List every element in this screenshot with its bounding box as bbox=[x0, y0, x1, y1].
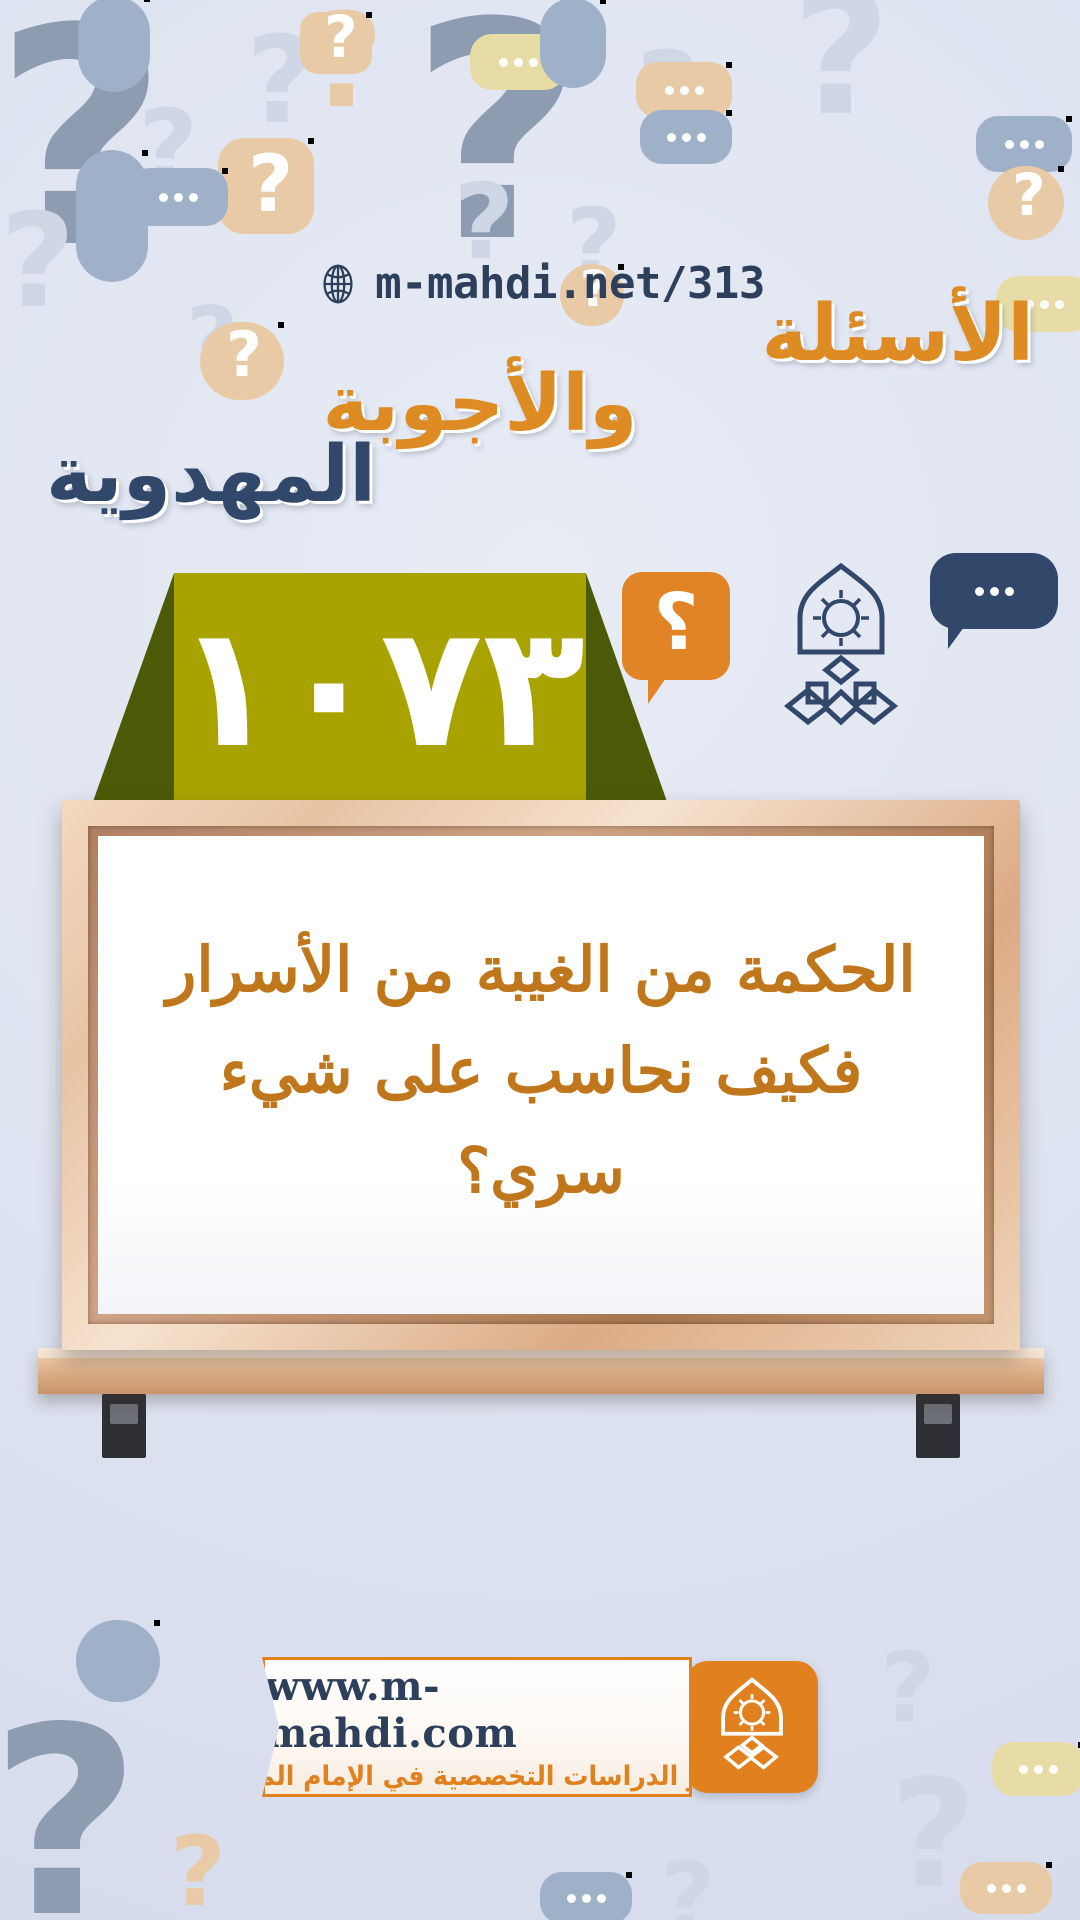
chat-bubble-icon bbox=[470, 34, 566, 90]
chat-bubble-icon bbox=[640, 110, 732, 164]
mahdi-center-ornament-icon bbox=[686, 1661, 818, 1793]
bubble-dots-icon bbox=[540, 1872, 632, 1920]
chat-bubble-icon: ? bbox=[218, 138, 314, 234]
shelf-bracket-right bbox=[916, 1394, 960, 1458]
chat-bubble-icon bbox=[930, 553, 1058, 629]
bubble-dots-icon bbox=[960, 1862, 1052, 1914]
question-mark-icon: ? bbox=[170, 1824, 226, 1920]
bubble-dots-icon bbox=[128, 168, 228, 226]
question-mark-icon: ? bbox=[138, 96, 198, 200]
question-mark-icon: ? bbox=[324, 8, 358, 66]
decor-blob bbox=[78, 0, 150, 92]
frame-canvas: الحكمة من الغيبة من الأسرار فكيف نحاسب ع… bbox=[98, 836, 984, 1314]
bubble-dots-icon bbox=[930, 553, 1058, 629]
chat-bubble-icon: ? bbox=[988, 166, 1064, 240]
question-mark-glyph: ؟ bbox=[622, 572, 730, 680]
bubble-dots-icon bbox=[470, 34, 566, 90]
footer-name-plate: www.m-mahdi.com مركز الدراسات التخصصية ف… bbox=[262, 1657, 692, 1797]
bubble-dots-icon bbox=[636, 62, 732, 118]
shelf-bracket-left bbox=[102, 1394, 146, 1458]
question-mark-icon: ? bbox=[980, 142, 1040, 246]
question-text: الحكمة من الغيبة من الأسرار فكيف نحاسب ع… bbox=[128, 920, 954, 1221]
bubble-dots-icon bbox=[640, 110, 732, 164]
frame-inner-molding: الحكمة من الغيبة من الأسرار فكيف نحاسب ع… bbox=[88, 826, 994, 1324]
chat-bubble-icon bbox=[540, 1872, 632, 1920]
footer-logo[interactable]: www.m-mahdi.com مركز الدراسات التخصصية ف… bbox=[0, 1632, 1080, 1822]
bubble-dots-icon bbox=[976, 116, 1072, 172]
footer-site-url[interactable]: www.m-mahdi.com bbox=[265, 1663, 689, 1757]
question-mark-icon: ? bbox=[248, 146, 293, 224]
question-mark-icon: ? bbox=[246, 22, 316, 142]
page-title: الأسئلة والأجوبة المهدوية bbox=[0, 296, 1080, 513]
question-mark-icon: ? bbox=[660, 1850, 716, 1920]
question-mark-bubble-icon: ؟ bbox=[622, 572, 730, 680]
footer-center-name: مركز الدراسات التخصصية في الإمام المهدي bbox=[206, 1761, 749, 1792]
chat-bubble-icon bbox=[976, 116, 1072, 172]
question-number-plaque: ١٠٧٣ bbox=[90, 573, 670, 810]
question-mark-icon: ? bbox=[0, 0, 168, 290]
chat-bubble-icon bbox=[960, 1862, 1052, 1914]
display-shelf bbox=[38, 1348, 1044, 1394]
chat-bubble-icon bbox=[128, 168, 228, 226]
islamic-ornament-icon bbox=[748, 560, 934, 740]
question-mark-icon: ? bbox=[308, 0, 383, 126]
decor-blob bbox=[540, 0, 606, 88]
frame-outer-molding: الحكمة من الغيبة من الأسرار فكيف نحاسب ع… bbox=[62, 800, 1020, 1350]
question-number: ١٠٧٣ bbox=[90, 573, 670, 810]
question-mark-icon: ? bbox=[1012, 166, 1046, 224]
chat-bubble-icon bbox=[636, 62, 732, 118]
chat-bubble-icon: ? bbox=[300, 12, 372, 74]
question-frame: الحكمة من الغيبة من الأسرار فكيف نحاسب ع… bbox=[62, 800, 1020, 1350]
poster-canvas: ? ? ? ? ? ? ? ? ? ? ? ? ? ? ? ? ? ? ? bbox=[0, 0, 1080, 1920]
question-mark-icon: ? bbox=[636, 38, 701, 150]
question-mark-icon: ? bbox=[792, 0, 891, 140]
question-mark-icon: ? bbox=[410, 0, 584, 284]
